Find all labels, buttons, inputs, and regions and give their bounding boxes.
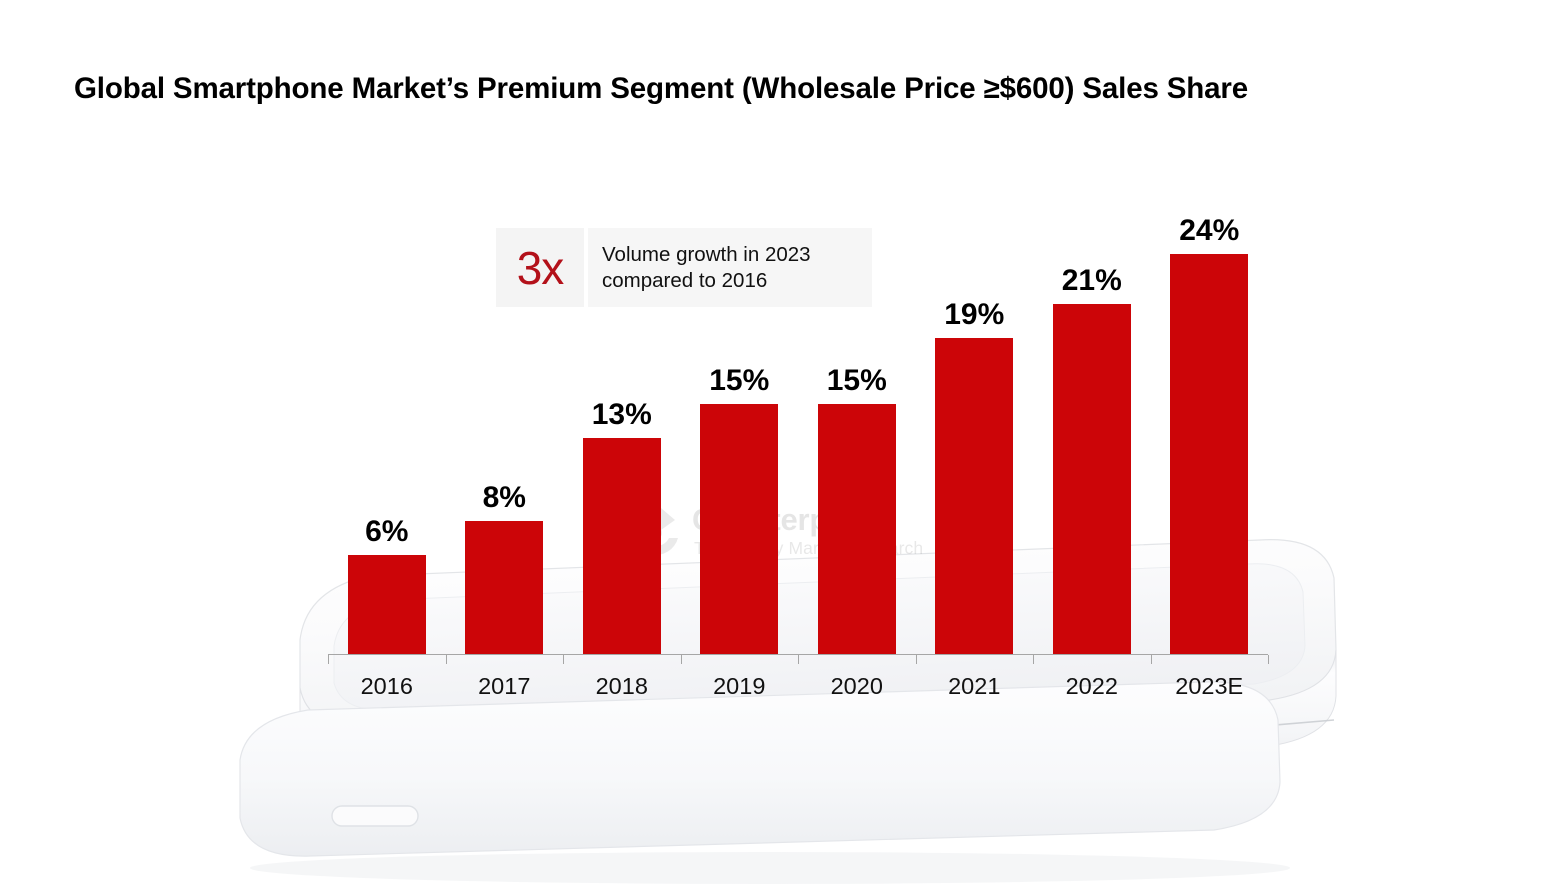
callout-text: Volume growth in 2023 compared to 2016 (588, 228, 872, 307)
x-axis-label: 2018 (563, 673, 681, 700)
axis-tick (1268, 655, 1269, 664)
bar-value-label: 15% (681, 364, 799, 398)
x-axis-label: 2021 (916, 673, 1034, 700)
x-axis-label: 2023E (1151, 673, 1269, 700)
bar-value-label: 6% (328, 515, 446, 549)
bar-value-label: 19% (916, 298, 1034, 332)
chart-canvas: Global Smartphone Market’s Premium Segme… (0, 0, 1558, 891)
bar-group: 24% (1151, 180, 1269, 655)
bar[interactable] (1170, 254, 1248, 655)
bar-value-label: 13% (563, 398, 681, 432)
bar-value-label: 21% (1033, 264, 1151, 298)
growth-callout: 3x Volume growth in 2023 compared to 201… (496, 228, 872, 307)
x-axis-label: 2017 (446, 673, 564, 700)
bar[interactable] (700, 404, 778, 655)
bar-value-label: 8% (446, 481, 564, 515)
callout-multiplier: 3x (496, 228, 584, 307)
callout-line-2: compared to 2016 (602, 268, 872, 294)
x-axis-label: 2020 (798, 673, 916, 700)
bar[interactable] (818, 404, 896, 655)
bar[interactable] (583, 438, 661, 655)
bar-group: 19% (916, 180, 1034, 655)
x-axis-label: 2016 (328, 673, 446, 700)
bar-group: 6% (328, 180, 446, 655)
x-axis-labels: 20162017201820192020202120222023E (328, 655, 1268, 705)
bar-value-label: 24% (1151, 214, 1269, 248)
bar-value-label: 15% (798, 364, 916, 398)
bar[interactable] (935, 338, 1013, 655)
bar[interactable] (1053, 304, 1131, 655)
bar[interactable] (465, 521, 543, 655)
x-axis-label: 2022 (1033, 673, 1151, 700)
chart-title: Global Smartphone Market’s Premium Segme… (74, 72, 1494, 106)
bar[interactable] (348, 555, 426, 655)
bar-group: 21% (1033, 180, 1151, 655)
callout-line-1: Volume growth in 2023 (602, 242, 872, 268)
x-axis-label: 2019 (681, 673, 799, 700)
